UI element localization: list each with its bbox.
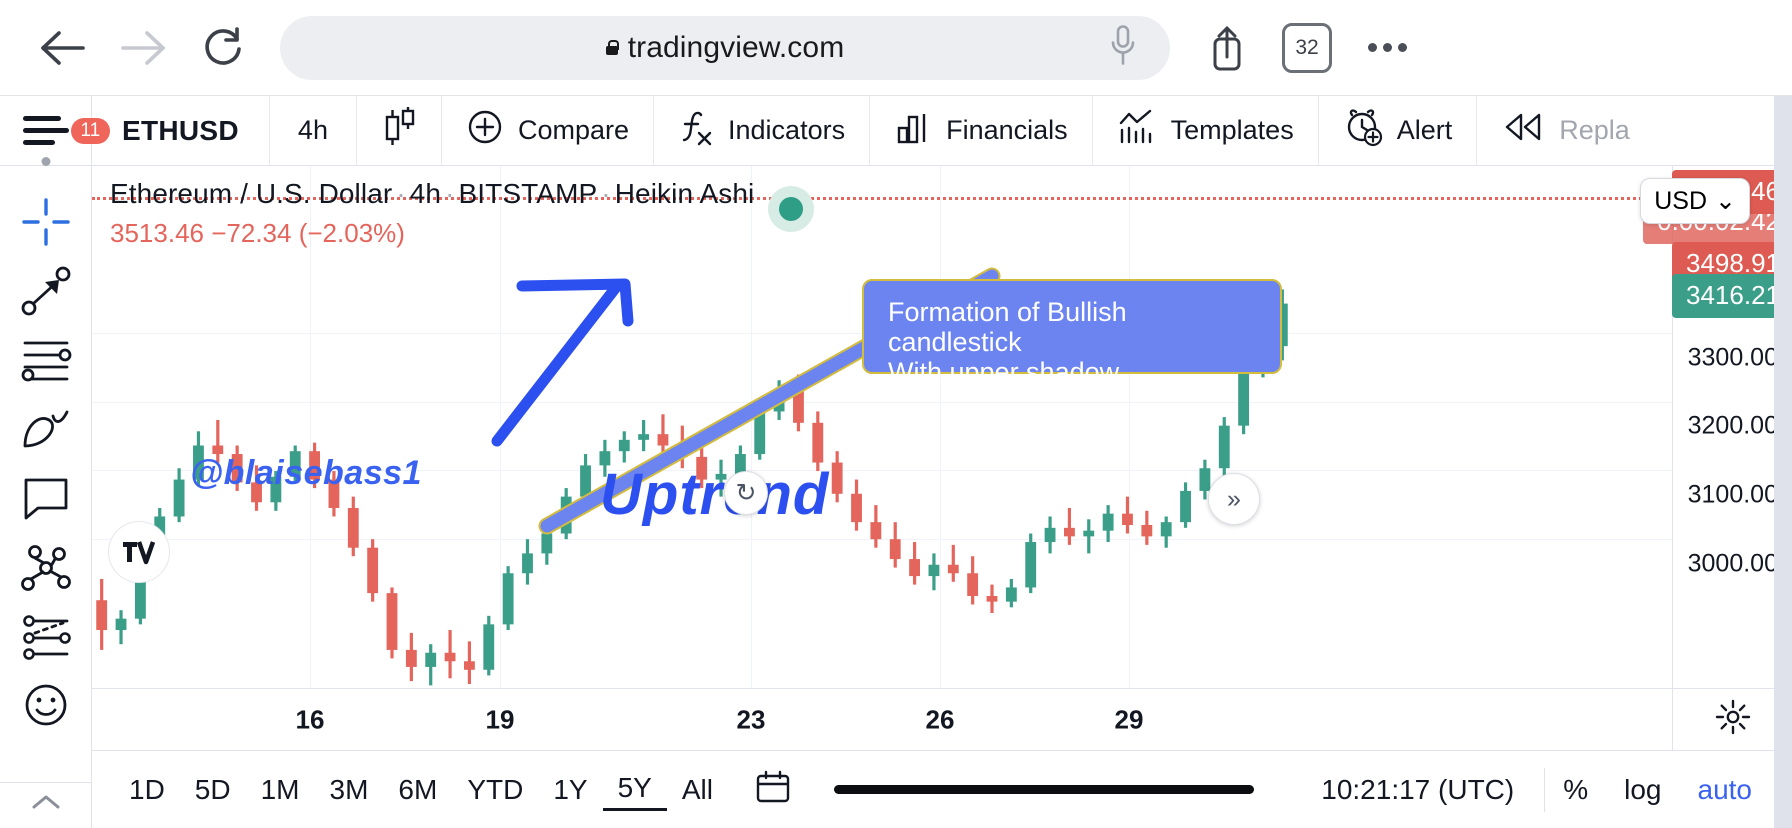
crosshair-icon (20, 196, 72, 253)
rewind-icon (1501, 110, 1545, 151)
function-icon (678, 106, 714, 155)
compare-button[interactable]: Compare (442, 96, 654, 165)
speech-bubble-icon (20, 474, 72, 527)
symbol-button[interactable]: ETHUSD (92, 96, 270, 165)
range-5d[interactable]: 5D (180, 770, 246, 810)
chart-column: ETHUSD 4h Compare Indicators (92, 96, 1792, 828)
annotation-line-1: Formation of Bullish candlestick (888, 297, 1262, 357)
candle-body (541, 534, 552, 554)
fib-retracement-tool[interactable] (0, 328, 92, 397)
candle-body (832, 463, 843, 494)
time-tick-16: 16 (296, 704, 325, 735)
log-scale-button[interactable]: log (1606, 770, 1679, 810)
indicators-label: Indicators (728, 115, 845, 146)
symbol-label: ETHUSD (122, 115, 239, 147)
candle-body (1045, 528, 1056, 542)
time-tick-29: 29 (1115, 704, 1144, 735)
price-summary: 3513.46 −72.34 (−2.03%) (110, 218, 405, 249)
reload-icon (201, 25, 245, 71)
candle-body (658, 434, 669, 445)
gear-icon (1715, 699, 1751, 740)
candle-body (812, 423, 823, 463)
candle-body (116, 619, 127, 630)
candle-body (425, 653, 436, 667)
candle-body (522, 553, 533, 573)
range-ytd[interactable]: YTD (452, 770, 538, 810)
candle-body (1025, 542, 1036, 587)
tab-switcher-button[interactable]: 32 (1270, 11, 1344, 85)
candle-body (445, 653, 456, 662)
price-change-percent: (−2.03%) (299, 218, 405, 248)
drawing-tools-list (0, 166, 92, 742)
candle-body (483, 624, 494, 669)
rotate-icon: ↻ (736, 478, 757, 508)
chart-settings-button[interactable] (1672, 689, 1792, 750)
rail-status-dot (41, 157, 50, 166)
calendar-icon (754, 769, 792, 810)
back-arrow-icon (39, 27, 87, 69)
share-icon (1207, 23, 1247, 73)
tradingview-logo[interactable] (108, 521, 170, 583)
timeframe-button[interactable]: 4h (270, 96, 357, 165)
range-6m[interactable]: 6M (383, 770, 452, 810)
candle-body (348, 508, 359, 548)
bottom-bar: 1D 5D 1M 3M 6M YTD 1Y 5Y All 10:21:17 (U… (92, 750, 1792, 828)
compare-label: Compare (518, 115, 629, 146)
timeframe-label: 4h (298, 115, 328, 146)
candle-body (1103, 514, 1114, 531)
bid-price-badge: 3416.21 (1672, 274, 1792, 318)
expand-right-handle[interactable]: » (1208, 473, 1260, 525)
candle-body (677, 446, 688, 457)
main-menu-button[interactable]: 11 (23, 114, 69, 148)
pattern-tool[interactable] (0, 535, 92, 604)
candle-body (387, 593, 398, 650)
templates-icon (1117, 108, 1157, 153)
tab-count: 32 (1282, 23, 1332, 73)
time-scrollbar[interactable] (834, 785, 1254, 794)
alert-button[interactable]: Alert (1319, 96, 1478, 165)
candle-body (464, 661, 475, 670)
exchange-label: BITSTAMP (459, 178, 598, 209)
notification-badge: 11 (71, 118, 111, 144)
url-display: tradingview.com (606, 31, 845, 65)
range-1m[interactable]: 1M (246, 770, 315, 810)
candle-body (1161, 522, 1172, 536)
alert-label: Alert (1397, 115, 1453, 146)
market-status-indicator[interactable] (768, 186, 814, 232)
range-all[interactable]: All (667, 770, 728, 810)
drawing-toolbar: 11 (0, 96, 92, 828)
session-clock: 10:21:17 (UTC) (1321, 774, 1544, 806)
chart-canvas[interactable]: Ethereum / U.S. Dollar·4h·BITSTAMP·Heiki… (92, 166, 1672, 688)
candle-body (1083, 531, 1094, 537)
tradingview-app: 11 (0, 96, 1792, 828)
candle-body (212, 446, 223, 455)
forecast-tool[interactable] (0, 604, 92, 673)
browser-toolbar: tradingview.com 32 (0, 0, 1792, 96)
candle-body (503, 573, 514, 624)
candle-body (367, 548, 378, 593)
bullish-candlestick-annotation[interactable]: Formation of Bullish candlestick With up… (862, 279, 1282, 374)
uptrend-label: Uptrend (600, 461, 829, 528)
candle-body (1219, 426, 1230, 469)
time-tick-23: 23 (737, 704, 766, 735)
candle-body (909, 559, 920, 576)
author-watermark: @blaisebass1 (190, 454, 422, 493)
range-3m[interactable]: 3M (315, 770, 384, 810)
price-tick-3000: 3000.00 (1688, 550, 1778, 579)
candle-body (1064, 528, 1075, 537)
replay-label: Repla (1559, 115, 1630, 146)
instrument-name: Ethereum / U.S. Dollar (110, 178, 392, 209)
candle-body (754, 411, 765, 454)
more-options-button[interactable] (1350, 11, 1424, 85)
candle-body (948, 565, 959, 574)
chevron-up-icon (29, 792, 63, 819)
time-axis[interactable]: 16 19 23 26 29 (92, 688, 1792, 750)
chart-style-label: Heikin Ashi (615, 178, 755, 209)
brush-tool[interactable] (0, 397, 92, 466)
price-change: −72.34 (211, 218, 291, 248)
time-tick-26: 26 (926, 704, 955, 735)
candle-body (987, 596, 998, 602)
address-bar[interactable]: tradingview.com (280, 16, 1170, 80)
trend-line-tool[interactable] (0, 259, 92, 328)
text-callout-tool[interactable] (0, 466, 92, 535)
time-tick-19: 19 (486, 704, 515, 735)
candle-body (890, 539, 901, 559)
range-1d[interactable]: 1D (114, 770, 180, 810)
financials-button[interactable]: Financials (870, 96, 1093, 165)
microphone-icon[interactable] (1110, 23, 1136, 72)
rail-collapse-button[interactable] (0, 782, 91, 828)
annotation-line-2: With upper shadow (888, 357, 1262, 387)
indicators-button[interactable]: Indicators (654, 96, 870, 165)
templates-label: Templates (1171, 115, 1294, 146)
candle-body (851, 494, 862, 522)
candle-body (774, 389, 785, 412)
chart-area: Ethereum / U.S. Dollar·4h·BITSTAMP·Heiki… (92, 166, 1792, 688)
chevron-down-icon: ⌄ (1715, 186, 1736, 216)
forward-button[interactable] (106, 11, 180, 85)
crosshair-tool[interactable] (0, 190, 92, 259)
range-1y[interactable]: 1Y (538, 770, 602, 810)
rotate-handle[interactable]: ↻ (724, 471, 768, 515)
price-tick-3300: 3300.00 (1688, 344, 1778, 373)
back-button[interactable] (26, 11, 100, 85)
chart-toolbar: ETHUSD 4h Compare Indicators (92, 96, 1792, 166)
date-range-button[interactable] (728, 769, 810, 810)
interval-label: 4h (410, 178, 441, 209)
bar-chart-icon (894, 108, 932, 153)
fib-lines-icon (19, 336, 73, 389)
url-text: tradingview.com (628, 31, 845, 65)
chevron-double-right-icon: » (1227, 485, 1241, 514)
candle-body (1180, 491, 1191, 522)
trend-line-arrow-icon (19, 264, 73, 323)
candle-body (406, 650, 417, 667)
candle-body (580, 465, 591, 496)
toolbar-spacer (1654, 96, 1792, 165)
share-button[interactable] (1190, 11, 1264, 85)
price-tick-3100: 3100.00 (1688, 481, 1778, 510)
more-options-icon (1358, 43, 1417, 52)
candle-body (1006, 587, 1017, 601)
price-tick-3200: 3200.00 (1688, 412, 1778, 441)
currency-label: USD (1654, 187, 1707, 216)
percent-scale-button[interactable]: % (1545, 770, 1606, 810)
emoji-tool[interactable] (0, 673, 92, 742)
candle-body (1199, 468, 1210, 491)
candle-body (561, 497, 572, 534)
candle-body (793, 389, 804, 423)
reload-button[interactable] (186, 11, 260, 85)
candle-body (619, 440, 630, 451)
currency-selector[interactable]: USD ⌄ (1640, 178, 1750, 224)
price-axis[interactable]: 3513.46 0.00:02:42 3498.91 3416.21 3300.… (1672, 166, 1792, 688)
candle-body (1122, 514, 1133, 525)
lock-icon (606, 40, 618, 55)
candle-body (638, 434, 649, 440)
candle-wick (952, 545, 955, 582)
candlestick-icon (379, 105, 419, 156)
candle-body (967, 573, 978, 596)
replay-button[interactable]: Repla (1477, 96, 1654, 165)
candle-wick (1068, 508, 1071, 545)
plus-circle-icon (466, 108, 504, 153)
candle-body (1141, 525, 1152, 536)
last-price: 3513.46 (110, 218, 204, 248)
candle-body (929, 565, 940, 576)
candle-body (174, 480, 185, 517)
forward-arrow-icon (119, 27, 167, 69)
candle-body (96, 600, 107, 630)
templates-button[interactable]: Templates (1093, 96, 1319, 165)
candle-body (870, 522, 881, 539)
financials-label: Financials (946, 115, 1068, 146)
brush-icon (19, 404, 73, 459)
smiley-icon (21, 680, 71, 735)
chart-type-button[interactable] (357, 96, 442, 165)
rail-menu-area: 11 (0, 96, 91, 166)
chart-title[interactable]: Ethereum / U.S. Dollar·4h·BITSTAMP·Heiki… (110, 178, 754, 210)
auto-scale-button[interactable]: auto (1680, 770, 1771, 810)
alarm-clock-icon (1343, 107, 1383, 154)
pattern-nodes-icon (19, 542, 73, 597)
range-5y[interactable]: 5Y (603, 768, 667, 811)
forecast-icon (19, 611, 73, 666)
